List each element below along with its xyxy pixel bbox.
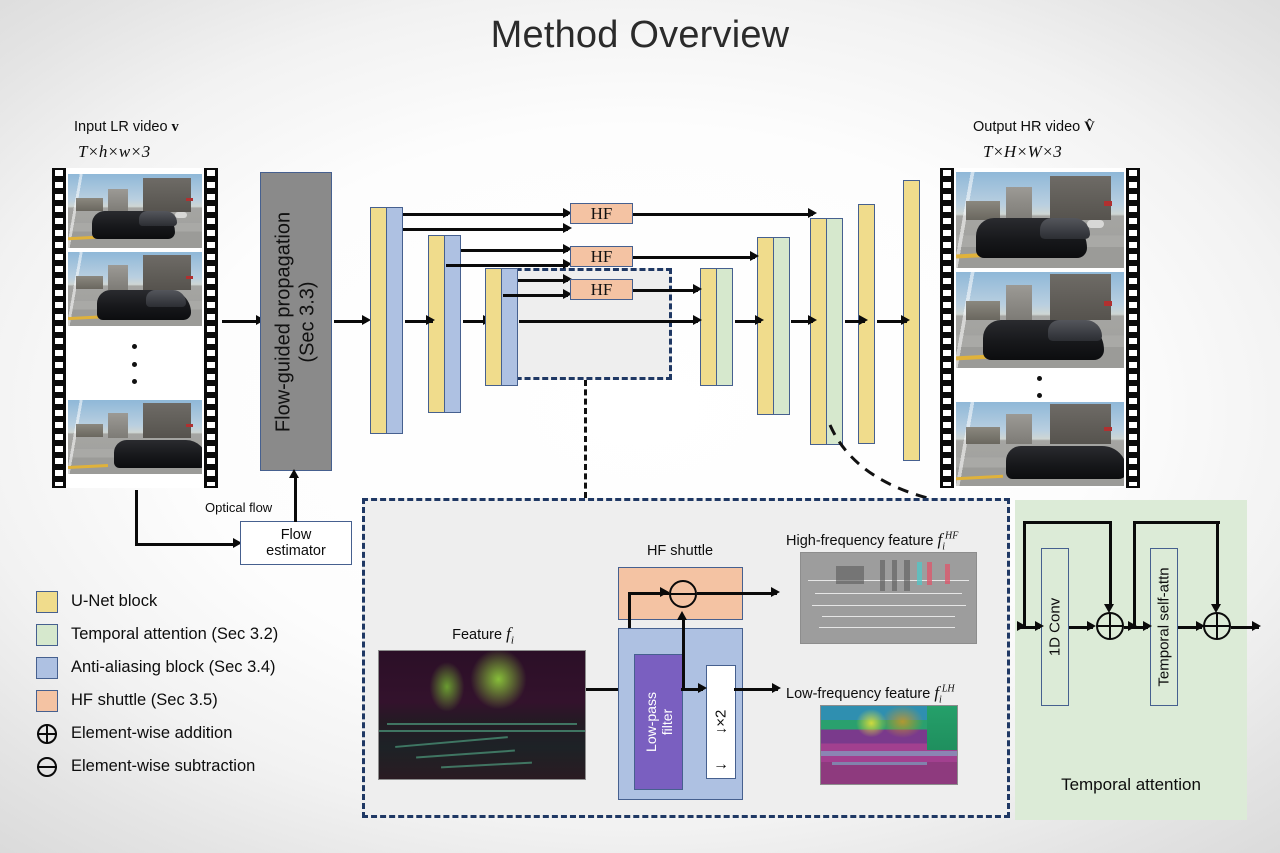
hf-shuttle-box-1[interactable]: HF <box>570 203 633 224</box>
arrowhead <box>1128 621 1137 631</box>
low-frequency-feature-image <box>820 705 958 785</box>
unet-decoder-block-3[interactable] <box>700 268 717 386</box>
arrowhead <box>660 587 669 597</box>
input-ellipsis <box>132 344 137 384</box>
low-pass-filter-box[interactable]: Low-passfilter <box>634 654 683 790</box>
legend-item-temporal-attention: Temporal attention (Sec 3.2) <box>36 618 278 651</box>
arrow-minus-to-hf-feature <box>697 592 777 595</box>
feature-caption: Feature fi <box>378 624 588 646</box>
high-frequency-caption: High-frequency feature fiHF <box>786 530 958 552</box>
output-video-symbol: V̂ <box>1084 119 1094 135</box>
hf-label: HF <box>571 204 632 224</box>
optical-flow-label: Optical flow <box>205 500 272 515</box>
legend-label: Element-wise subtraction <box>71 757 255 776</box>
arrowhead <box>1035 621 1044 631</box>
arrowhead <box>698 683 707 693</box>
legend-label: HF shuttle (Sec 3.5) <box>71 691 218 710</box>
arrowhead <box>808 315 817 325</box>
flow-estimator-block[interactable]: Flowestimator <box>240 521 352 565</box>
arrowhead <box>1252 621 1261 631</box>
flow-guided-propagation-block[interactable]: Flow-guided propagation(Sec 3.3) <box>260 172 332 471</box>
temporal-self-attn-label: Temporal self-attn <box>1156 567 1173 686</box>
feature-map-image <box>378 650 586 780</box>
legend: U-Net block Temporal attention (Sec 3.2)… <box>36 585 278 783</box>
unet-decoder-block-2[interactable] <box>757 237 774 415</box>
page-title: Method Overview <box>0 14 1280 57</box>
temporal-attention-block-2[interactable] <box>773 237 790 415</box>
legend-label: Anti-aliasing block (Sec 3.4) <box>71 658 276 677</box>
ta-skip2-top <box>1133 521 1220 524</box>
high-frequency-feature-image <box>800 552 977 644</box>
legend-swatch-anti-aliasing <box>36 657 58 679</box>
arrowhead <box>771 587 780 597</box>
input-video-label: Input LR video v <box>74 119 179 136</box>
antialias-encoder-block-2[interactable] <box>444 235 461 413</box>
ta-skip2-left <box>1133 522 1136 628</box>
arrowhead <box>859 315 868 325</box>
legend-item-hf-shuttle: HF shuttle (Sec 3.5) <box>36 684 278 717</box>
skip-2a <box>461 249 568 252</box>
legend-swatch-hf-shuttle <box>36 690 58 712</box>
input-frame <box>68 252 202 326</box>
arrow-input-to-propagation <box>222 320 258 323</box>
arrowhead <box>693 284 702 294</box>
low-pass-filter-label: Low-passfilter <box>642 692 674 752</box>
hf1-out <box>633 213 813 216</box>
hf-label: HF <box>571 280 632 300</box>
arrowhead <box>772 683 781 693</box>
temporal-attention-block-1[interactable] <box>826 218 843 445</box>
skip-2b <box>446 264 568 267</box>
line-lowpass-tap-up <box>682 620 685 690</box>
low-frequency-caption: Low-frequency feature fiLH <box>786 683 955 705</box>
arrowhead <box>563 223 572 233</box>
antialias-encoder-block-3-front[interactable] <box>501 268 518 386</box>
output-video-label: Output HR video V̂ <box>973 119 1095 136</box>
arrowhead <box>750 251 759 261</box>
legend-item-anti-aliasing: Anti-aliasing block (Sec 3.4) <box>36 651 278 684</box>
output-frame <box>956 402 1124 486</box>
output-video-shape: T×H×W×3 <box>983 142 1062 162</box>
legend-item-subtraction: Element-wise subtraction <box>36 750 278 783</box>
arrowhead <box>426 315 435 325</box>
hf3-out <box>633 289 698 292</box>
feature-symbol: fi <box>506 624 514 643</box>
output-ellipsis <box>1037 376 1042 398</box>
input-frame <box>68 400 202 474</box>
skip-1a <box>403 213 568 216</box>
legend-item-unet-block: U-Net block <box>36 585 278 618</box>
downsample-box[interactable]: ↓×2 → <box>706 665 736 779</box>
unet-encoder-block-1[interactable] <box>370 207 387 434</box>
legend-swatch-unet <box>36 591 58 613</box>
arrowhead <box>1143 621 1152 631</box>
ta-skip1-left <box>1023 522 1026 628</box>
diagram-canvas: Method Overview Input LR video v T×h×w×3 <box>0 0 1280 853</box>
filmstrip-perforation-right <box>204 168 218 488</box>
temporal-attention-block-3[interactable] <box>716 268 733 386</box>
temporal-attention-caption: Temporal attention <box>1015 775 1247 795</box>
downsample-label: ↓×2 <box>713 710 730 735</box>
arrow-right-glyph: → <box>713 756 729 774</box>
legend-label: U-Net block <box>71 592 157 611</box>
arrowhead <box>289 469 299 478</box>
unet-encoder-block-3-front[interactable] <box>485 268 502 386</box>
skip-1b <box>403 228 568 231</box>
circle-plus-icon <box>36 723 58 745</box>
input-frames <box>66 168 204 488</box>
circle-minus-icon <box>36 756 58 778</box>
bottleneck-line <box>519 320 698 323</box>
input-filmstrip <box>52 168 218 488</box>
line-input-branch <box>135 490 138 545</box>
flow-guided-propagation-label: Flow-guided propagation(Sec 3.3) <box>272 211 319 431</box>
arrowhead <box>808 208 817 218</box>
skip-3b <box>503 294 568 297</box>
circle-plus-icon <box>1203 612 1231 640</box>
legend-item-addition: Element-wise addition <box>36 717 278 750</box>
arrow-to-flow-estimator <box>135 543 235 546</box>
circle-plus-icon <box>1096 612 1124 640</box>
arrowhead <box>755 315 764 325</box>
hf-shuttle-caption: HF shuttle <box>590 543 770 559</box>
conv-1d-label: 1D Conv <box>1047 598 1064 656</box>
output-frame <box>956 172 1124 268</box>
unet-decoder-block-1[interactable] <box>810 218 827 445</box>
hf-label: HF <box>571 247 632 267</box>
filmstrip-perforation-right <box>1126 168 1140 488</box>
hf-shuttle-box-3[interactable]: HF <box>570 279 633 300</box>
ta-skip1-right <box>1109 521 1112 605</box>
hf-shuttle-box-2[interactable]: HF <box>570 246 633 267</box>
antialias-encoder-block-1[interactable] <box>386 207 403 434</box>
skip-3a <box>518 279 568 282</box>
arrow-flow-to-propagation <box>294 478 297 522</box>
ta-skip2-right <box>1216 521 1219 605</box>
output-frames <box>954 168 1126 488</box>
flow-estimator-label: Flowestimator <box>241 527 351 559</box>
arrowhead <box>1104 604 1114 613</box>
filmstrip-perforation-left <box>52 168 66 488</box>
output-frame <box>956 272 1124 368</box>
ta-skip1-top <box>1023 521 1112 524</box>
detail-connector-line <box>584 380 587 498</box>
legend-label: Element-wise addition <box>71 724 232 743</box>
conv-1d-box[interactable]: 1D Conv <box>1041 548 1069 706</box>
input-frame <box>68 174 202 248</box>
arrowhead <box>1211 604 1221 613</box>
arrowhead <box>1087 621 1096 631</box>
arrowhead <box>677 611 687 620</box>
input-video-symbol: v <box>172 119 179 135</box>
arrowhead <box>693 315 702 325</box>
legend-swatch-temporal-attention <box>36 624 58 646</box>
arrowhead <box>901 315 910 325</box>
input-video-shape: T×h×w×3 <box>78 142 150 162</box>
temporal-self-attn-box[interactable]: Temporal self-attn <box>1150 548 1178 706</box>
legend-label: Temporal attention (Sec 3.2) <box>71 625 278 644</box>
circle-minus-icon <box>669 580 697 608</box>
filmstrip-perforation-left <box>940 168 954 488</box>
hf2-out <box>633 256 755 259</box>
arrowhead <box>1017 621 1026 631</box>
output-filmstrip <box>940 168 1140 488</box>
